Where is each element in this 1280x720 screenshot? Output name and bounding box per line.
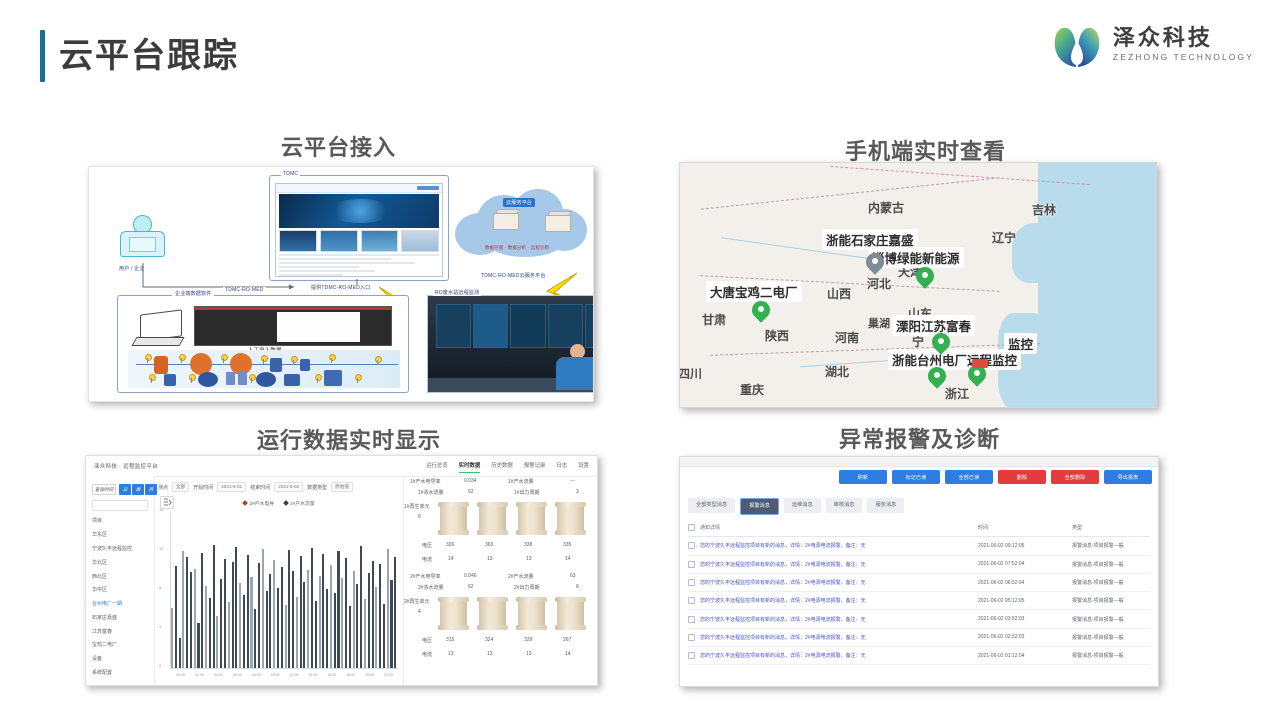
site-label-baoji[interactable]: 大唐宝鸡二电厂 (706, 281, 802, 302)
province-label-hubei: 湖北 (825, 363, 849, 380)
chart-x-tick: 00:00 (176, 673, 185, 677)
metric-4-label: 1#出力周期 (514, 489, 540, 496)
group1-voltage-2: 363 (485, 542, 493, 548)
enterprise-software-label: 企业端数据软件 (172, 290, 214, 297)
legend-item-2: 2#产水流量 (284, 500, 315, 507)
software-screenshot (194, 306, 392, 346)
chart-x-tick: 18:00 (346, 673, 355, 677)
chart-bar (190, 572, 192, 668)
unit-drum-6 (479, 597, 506, 630)
table-row[interactable]: 您的宁波久丰远程监控项目有新的消息，详情：2#电源电流报警，备注：无2021-0… (688, 556, 1150, 574)
group1-voltage-3: 338 (524, 542, 532, 548)
province-label-shaanxi: 陕西 (765, 327, 789, 344)
chart-bar (360, 546, 362, 668)
chart-bar (341, 578, 343, 668)
table-row[interactable]: 您的宁波久丰远程监控项目有新的消息，详情：2#电源电流报警，备注：无2021-0… (688, 537, 1150, 555)
table-header-row: 通知详情 时间 类型 (688, 519, 1150, 537)
alarm-type: 报警消息-项目报警—般 (1072, 597, 1150, 604)
alarm-detail-link[interactable]: 您的宁波久丰远程监控项目有新的消息，详情：2#电源电流报警，备注：无 (700, 616, 978, 623)
group1-current-1: 14 (448, 556, 454, 562)
tab-audit-messages[interactable]: 审核消息 (826, 498, 863, 513)
alarm-type: 报警消息-项目报警—般 (1072, 634, 1150, 641)
province-label-henan: 河南 (835, 329, 859, 346)
chart-bar (311, 548, 313, 668)
chart-x-tick: 10:00 (271, 673, 280, 677)
row-checkbox[interactable] (688, 542, 695, 549)
chart-bar (258, 563, 260, 668)
alarm-time: 2021-06-02 06:32:04 (978, 580, 1072, 586)
dashboard-sidebar: 查询时间 日 周 月 项目 华东区 宁波久丰远程监控 华北区 西北区 华中区 台… (86, 476, 155, 685)
alarm-time: 2021-06-02 07:52:04 (978, 561, 1072, 567)
alarm-type: 报警消息-项目报警—般 (1072, 579, 1150, 586)
metrics-panel: 1#产水电导率 0.034 1#产水流量 --- 1#浓水流量 62 1#出力周… (403, 476, 597, 685)
row-checkbox[interactable] (688, 561, 695, 568)
chart-toolbar[interactable]: 测点 全部 开始时间 2021-6-01 结束时间 2021-6-02 数据类型… (158, 482, 400, 492)
group2-voltage-3: 329 (524, 637, 532, 643)
project-tree[interactable]: 项目 华东区 宁波久丰远程监控 华北区 西北区 华中区 台州电厂一期 石家庄嘉盛… (92, 514, 150, 679)
menu-item-log[interactable]: 日志 (556, 461, 567, 473)
dashboard-chart-area: 测点 全部 开始时间 2021-6-01 结束时间 2021-6-02 数据类型… (154, 476, 404, 685)
metric-10-value: 4 (418, 609, 421, 615)
chart-bar (179, 638, 181, 668)
menu-item-overview[interactable]: 运行总览 (426, 461, 448, 473)
chart-y-tick: 0 (159, 663, 161, 668)
chart-y-tick: 16 (159, 507, 163, 512)
menu-item-realtime[interactable]: 实时数据 (459, 461, 481, 473)
tab-alarm-messages[interactable]: 报警消息 (740, 498, 779, 515)
chart-bar (277, 588, 279, 668)
chart-bar (228, 602, 230, 668)
page-title: 云平台跟踪 (40, 30, 239, 82)
province-border-1 (701, 177, 999, 209)
chart-bar (375, 587, 377, 668)
time-range-segmented[interactable]: 查询时间 日 周 月 (92, 484, 158, 495)
company-logo: 泽众科技 ZEZHONG TECHNOLOGY (1051, 18, 1254, 70)
chart-bar (239, 583, 241, 668)
chart-bar (262, 549, 264, 668)
chart-y-tick: 8 (159, 585, 161, 590)
menu-item-history[interactable]: 历史数据 (491, 461, 513, 473)
alarm-type: 报警消息-项目报警—般 (1072, 542, 1150, 549)
chart-bar (266, 591, 268, 668)
map-pin-inactive[interactable] (866, 253, 884, 277)
chart-bar (303, 582, 305, 668)
chart-x-tick: 02:00 (195, 673, 204, 677)
export-report-button[interactable]: 导出报表 (1104, 470, 1152, 484)
alarm-detail-link[interactable]: 您的宁波久丰远程监控项目有新的消息，详情：2#电源电流报警，备注：无 (700, 542, 978, 549)
chart-bar (201, 553, 203, 668)
dashboard-brand: 泽众科技 · 远程监控平台 (94, 462, 158, 470)
column-header-detail: 通知详情 (700, 524, 978, 531)
row-checkbox[interactable] (688, 616, 695, 623)
unit-drum-4 (557, 502, 584, 535)
tree-node-sysconfig[interactable]: 系统配置 (92, 666, 150, 680)
menu-item-settings[interactable]: 设置 (578, 461, 589, 473)
toolbar-label-end: 结束时间 (250, 484, 270, 491)
chart-bar (364, 599, 366, 668)
toolbar-label-point: 测点 (158, 484, 168, 491)
tree-node-ningbo[interactable]: 宁波久丰远程监控 (92, 542, 150, 556)
metric-7-label: 2#产水流量 (508, 573, 534, 580)
province-label-jilin: 吉林 (1032, 201, 1056, 218)
chart-bar (235, 547, 237, 668)
alarm-detail-link[interactable]: 您的宁波久丰远程监控项目有新的消息，详情：2#电源电流报警，备注：无 (700, 597, 978, 604)
chart-bar (322, 554, 324, 668)
map-pin-liyang[interactable] (932, 333, 950, 357)
chart-y-tick: 4 (159, 624, 161, 629)
mobile-map-panel: 内蒙古 吉林 辽宁 河北 山西 山东 天津 甘肃 陕西 河南 湖北 重庆 四川 … (679, 162, 1157, 408)
segmented-label: 查询时间 (92, 484, 116, 495)
alarm-time: 2021-06-02 03:52:03 (978, 616, 1072, 622)
dashboard-topbar: 泽众科技 · 远程监控平台 运行总览 实时数据 历史数据 报警记录 日志 设置 (86, 456, 597, 477)
group2-voltage-label: 电压 (422, 637, 432, 644)
tree-node-north[interactable]: 华北区 (92, 555, 150, 569)
chart-bar (334, 593, 336, 668)
toolbar-value-point[interactable]: 全部 (172, 482, 189, 492)
chart-bar (300, 556, 302, 668)
realtime-bar-chart[interactable]: 048121600:0002:0004:0006:0008:0010:0012:… (170, 512, 398, 669)
chart-x-tick: 16:00 (327, 673, 336, 677)
alarm-type: 报警消息-项目报警—般 (1072, 561, 1150, 568)
chart-bar (345, 558, 347, 668)
chart-y-tick: 12 (159, 546, 163, 551)
chart-bar (213, 545, 215, 668)
metric-1-label: 1#产水电导率 (410, 478, 441, 485)
tree-node-northwest[interactable]: 西北区 (92, 569, 150, 583)
chart-x-tick: 08:00 (252, 673, 261, 677)
group2-voltage-4: 267 (563, 637, 571, 643)
section-title-cloud-access: 云平台接入 (281, 130, 396, 162)
leaf-droplet-icon (1051, 18, 1103, 70)
group2-current-4: 14 (565, 651, 571, 657)
slide-header: 云平台跟踪 泽众科技 Z (0, 0, 1280, 100)
alarm-detail-link[interactable]: 您的宁波久丰远程监控项目有新的消息，详情：2#电源电流报警，备注：无 (700, 561, 978, 568)
table-row[interactable]: 您的宁波久丰远程监控项目有新的消息，详情：2#电源电流报警，备注：无2021-0… (688, 574, 1150, 592)
tab-ops-messages[interactable]: 运维消息 (784, 498, 821, 513)
row-checkbox[interactable] (688, 579, 695, 586)
alarm-time: 2021-06-02 05:12:05 (978, 598, 1072, 604)
cloud-sub-note: 数据存储 · 数据分析 · 远程诊断 (485, 245, 549, 251)
alarm-detail-link[interactable]: 您的宁波久丰远程监控项目有新的消息，详情：2#电源电流报警，备注：无 (700, 579, 978, 586)
province-label-gansu: 甘肃 (702, 311, 726, 328)
toolbar-label-start: 开始时间 (193, 484, 213, 491)
delete-all-button[interactable]: 全部删除 (1051, 470, 1099, 484)
metric-5-label: 1#再生单元 (404, 503, 430, 510)
group1-voltage-label: 电压 (422, 542, 432, 549)
province-label-chaohu: 巢湖 (868, 315, 890, 331)
site-label-jiankong[interactable]: 监控 (1004, 333, 1037, 354)
alarm-time: 2021-06-02 01:12:04 (978, 653, 1072, 659)
segmented-week[interactable]: 周 (132, 484, 144, 495)
chart-bar (273, 560, 275, 668)
metric-9-label: 2#出力周期 (514, 584, 540, 591)
map-pin-zhejiang[interactable] (968, 365, 986, 389)
tree-node-central[interactable]: 华中区 (92, 583, 150, 597)
province-label-hebei: 河北 (867, 275, 891, 292)
chart-bar (383, 604, 385, 668)
toolbar-label-type: 数据类型 (307, 484, 327, 491)
chart-bar (337, 551, 339, 668)
tab-service-messages[interactable]: 服务消息 (867, 498, 904, 513)
chart-bar (243, 595, 245, 668)
province-label-zhejiang: 浙江 (945, 385, 969, 402)
title-accent-bar (40, 30, 45, 82)
chart-bar (197, 623, 199, 668)
group1-current-label: 电流 (422, 556, 432, 563)
alarm-time: 2021-06-02 09:12:05 (978, 543, 1072, 549)
control-room-photo (427, 295, 594, 393)
chart-bar (285, 605, 287, 668)
unit-drum-2 (479, 502, 506, 535)
chart-bar (296, 597, 298, 668)
chart-bar (368, 573, 370, 668)
alarm-type-tabs[interactable]: 全部类型消息 报警消息 运维消息 审核消息 服务消息 (688, 498, 904, 515)
chart-bar (353, 571, 355, 669)
alarm-window-header (680, 457, 1158, 467)
chart-bar (326, 589, 328, 668)
metric-6-value: 0.046 (464, 573, 477, 579)
column-header-time: 时间 (978, 524, 1072, 531)
group1-current-2: 13 (487, 556, 493, 562)
server-icon-2 (545, 211, 571, 231)
system-label: TDMC-RO-MED (223, 287, 266, 293)
chart-x-tick: 06:00 (233, 673, 242, 677)
bohai-bay (1012, 223, 1070, 283)
chart-bar (209, 598, 211, 668)
chart-bar (288, 550, 290, 668)
unit-drum-8 (557, 597, 584, 630)
chart-x-tick: 04:00 (214, 673, 223, 677)
metric-6-label: 2#产水电导率 (410, 573, 441, 580)
chart-bar (220, 579, 222, 668)
chart-bar (281, 567, 283, 668)
group2-current-label: 电流 (422, 651, 432, 658)
chart-bar (247, 555, 249, 668)
metric-7-value: 63 (570, 573, 576, 579)
chart-x-tick: 14:00 (308, 673, 317, 677)
delete-button[interactable]: 删除 (998, 470, 1046, 484)
tree-node-baoji[interactable]: 宝鸡二电厂 (92, 638, 150, 652)
monitor-label: RO废水站远程监测 (433, 289, 481, 296)
column-header-type: 类型 (1072, 524, 1150, 531)
chart-legend: 2#产水电导 2#产水流量 (154, 500, 404, 507)
group1-voltage-4: 335 (563, 542, 571, 548)
unit-drum-1 (440, 502, 467, 535)
chart-bar (315, 601, 317, 668)
map-pin-baoji[interactable] (752, 301, 770, 325)
province-label-sichuan: 四川 (680, 365, 702, 382)
enterprise-software-frame: 企业端数据软件 人工录入数据 (117, 295, 409, 393)
group2-voltage-2: 324 (485, 637, 493, 643)
select-all-checkbox[interactable] (688, 524, 695, 531)
chart-bar (379, 564, 381, 668)
metric-5-value: 6 (418, 514, 421, 520)
alarm-detail-link[interactable]: 您的宁波久丰远程监控项目有新的消息，详情：2#电源电流报警，备注：无 (700, 652, 978, 659)
cloud-access-diagram-panel: 用户 / 企业 TDMC 提供TDMC-RO-MED入口 (88, 166, 594, 402)
logo-company-name: 泽众科技 (1113, 26, 1254, 50)
toolbar-value-type[interactable]: 原始值 (331, 482, 353, 492)
mark-read-button[interactable]: 标记已读 (892, 470, 940, 484)
chart-x-tick: 22:00 (384, 673, 393, 677)
chart-bar (319, 576, 321, 668)
toolbar-value-end[interactable]: 2021-6-02 (274, 482, 303, 492)
chart-bar (186, 557, 188, 668)
segmented-day[interactable]: 日 (119, 484, 131, 495)
province-label-shanxi: 山西 (827, 285, 851, 302)
site-label-taizhou[interactable]: 浙能台州电厂远程监控 (888, 349, 1021, 370)
group1-voltage-1: 326 (446, 542, 454, 548)
metric-4-value: 3 (576, 489, 579, 495)
group1-current-4: 14 (565, 556, 571, 562)
row-checkbox[interactable] (688, 597, 695, 604)
legend-item-1: 2#产水电导 (243, 500, 274, 507)
chart-bar (182, 551, 184, 668)
metric-3-value: 62 (468, 489, 474, 495)
chart-bar (390, 580, 392, 668)
chart-bar (250, 577, 252, 668)
logo-company-name-en: ZEZHONG TECHNOLOGY (1113, 52, 1254, 62)
mark-all-read-button[interactable]: 全部已读 (945, 470, 993, 484)
cloud-badge: 云服务平台 (503, 198, 535, 207)
menu-item-alarm[interactable]: 报警记录 (524, 461, 546, 473)
unit-drum-3 (518, 502, 545, 535)
table-row[interactable]: 您的宁波久丰远程监控项目有新的消息，详情：2#电源电流报警，备注：无2021-0… (688, 592, 1150, 610)
table-row[interactable]: 您的宁波久丰远程监控项目有新的消息，详情：2#电源电流报警，备注：无2021-0… (688, 629, 1150, 647)
realtime-dashboard-panel: 泽众科技 · 远程监控平台 运行总览 实时数据 历史数据 报警记录 日志 设置 … (85, 455, 598, 686)
metric-10-label: 2#再生单元 (404, 598, 430, 605)
chart-x-tick: 12:00 (289, 673, 298, 677)
table-row[interactable]: 您的宁波久丰远程监控项目有新的消息，详情：2#电源电流报警，备注：无2021-0… (688, 610, 1150, 628)
chart-bar (394, 557, 396, 668)
tree-node-shijiazhuang[interactable]: 石家庄嘉盛 (92, 610, 150, 624)
section-title-realtime-data: 运行数据实时显示 (257, 423, 441, 455)
group2-current-2: 13 (487, 651, 493, 657)
chart-bar (269, 574, 271, 668)
alarm-detail-link[interactable]: 您的宁波久丰远程监控项目有新的消息，详情：2#电源电流报警，备注：无 (700, 634, 978, 641)
china-map[interactable]: 内蒙古 吉林 辽宁 河北 山西 山东 天津 甘肃 陕西 河南 湖北 重庆 四川 … (680, 163, 1156, 407)
page-title-text: 云平台跟踪 (59, 39, 239, 73)
tab-all-messages[interactable]: 全部类型消息 (688, 498, 735, 513)
chart-bar (387, 549, 389, 668)
chart-bar (307, 570, 309, 668)
group2-current-1: 13 (448, 651, 454, 657)
chart-bar (330, 565, 332, 668)
dashboard-menu[interactable]: 运行总览 实时数据 历史数据 报警记录 日志 设置 (426, 461, 589, 473)
alarm-type: 报警消息-项目报警—般 (1072, 616, 1150, 623)
server-icon-1 (493, 209, 519, 229)
chart-bar (232, 562, 234, 668)
section-title-alarm-diagnosis: 异常报警及诊断 (839, 422, 1000, 454)
tree-node-project[interactable]: 项目 (92, 514, 150, 528)
province-label-neimenggu: 内蒙古 (868, 199, 904, 216)
map-pin-taizhou[interactable] (928, 367, 946, 391)
map-pin-zibo[interactable] (916, 267, 934, 291)
map-highlight-area (972, 359, 988, 368)
chart-bar (216, 616, 218, 668)
group2-current-3: 13 (526, 651, 532, 657)
tree-node-east[interactable]: 华东区 (92, 528, 150, 542)
chart-bar (292, 571, 294, 668)
chart-bar (356, 584, 358, 668)
metric-2-label: 1#产水流量 (508, 478, 534, 485)
metric-1-value: 0.034 (464, 478, 477, 484)
process-flow-diagram (128, 350, 400, 388)
row-checkbox[interactable] (688, 652, 695, 659)
sea-area-east (1038, 163, 1156, 407)
province-label-chongqing: 重庆 (740, 381, 764, 398)
tree-node-device[interactable]: 设备 (92, 652, 150, 666)
table-row[interactable]: 您的宁波久丰远程监控项目有新的消息，详情：2#电源电流报警，备注：无2021-0… (688, 647, 1150, 665)
chart-bar (349, 606, 351, 668)
chart-bar (224, 559, 226, 668)
alarm-time: 2021-06-02 02:32:03 (978, 634, 1072, 640)
desktop-pc-icon (134, 312, 184, 346)
chart-bar (175, 566, 177, 668)
alarm-type: 报警消息-项目报警—般 (1072, 652, 1150, 659)
alarm-table: 通知详情 时间 类型 您的宁波久丰远程监控项目有新的消息，详情：2#电源电流报警… (688, 519, 1150, 682)
metric-3-label: 1#浓水流量 (418, 489, 444, 496)
chart-bar (254, 609, 256, 668)
chart-bar (194, 569, 196, 668)
toolbar-value-start[interactable]: 2021-6-01 (217, 482, 246, 492)
refresh-button[interactable]: 刷新 (839, 470, 887, 484)
unit-drum-5 (440, 597, 467, 630)
tree-node-fuchun[interactable]: 江苏富春 (92, 624, 150, 638)
chart-bar (171, 608, 173, 668)
chart-x-tick: 20:00 (365, 673, 374, 677)
metric-2-value: --- (570, 478, 575, 484)
metric-9-value: 6 (576, 584, 579, 590)
tree-filter-input[interactable] (92, 500, 148, 511)
province-label-liaoning: 辽宁 (992, 229, 1016, 246)
chart-bar (372, 561, 374, 668)
group1-current-3: 13 (526, 556, 532, 562)
metric-8-label: 2#浓水流量 (418, 584, 444, 591)
group2-voltage-1: 315 (446, 637, 454, 643)
alarm-action-buttons[interactable]: 刷新 标记已读 全部已读 删除 全部删除 导出报表 (839, 470, 1152, 484)
row-checkbox[interactable] (688, 634, 695, 641)
tree-node-taizhou[interactable]: 台州电厂一期 (92, 597, 150, 611)
metric-8-value: 62 (468, 584, 474, 590)
alarm-list-panel: 刷新 标记已读 全部已读 删除 全部删除 导出报表 全部类型消息 报警消息 运维… (679, 456, 1159, 687)
chart-bar (205, 586, 207, 668)
unit-drum-7 (518, 597, 545, 630)
